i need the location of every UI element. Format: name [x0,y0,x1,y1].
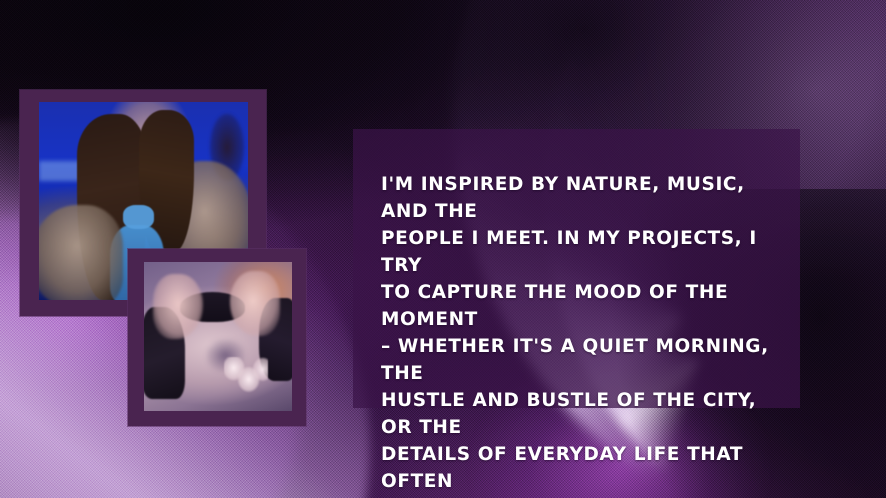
photo-closeup-image [144,262,292,411]
slide-canvas: I'M INSPIRED BY NATURE, MUSIC, AND THE P… [0,0,886,498]
photo-closeup-hand-right [230,271,280,337]
photo-portrait-choker [123,205,154,229]
photo-portrait-fur-left [39,205,123,300]
photo-frame-closeup[interactable] [128,249,306,426]
quote-text: I'M INSPIRED BY NATURE, MUSIC, AND THE P… [381,171,772,498]
quote-panel: I'M INSPIRED BY NATURE, MUSIC, AND THE P… [353,129,800,408]
photo-closeup-hand-left [153,274,203,340]
photo-closeup-nails [224,357,268,393]
